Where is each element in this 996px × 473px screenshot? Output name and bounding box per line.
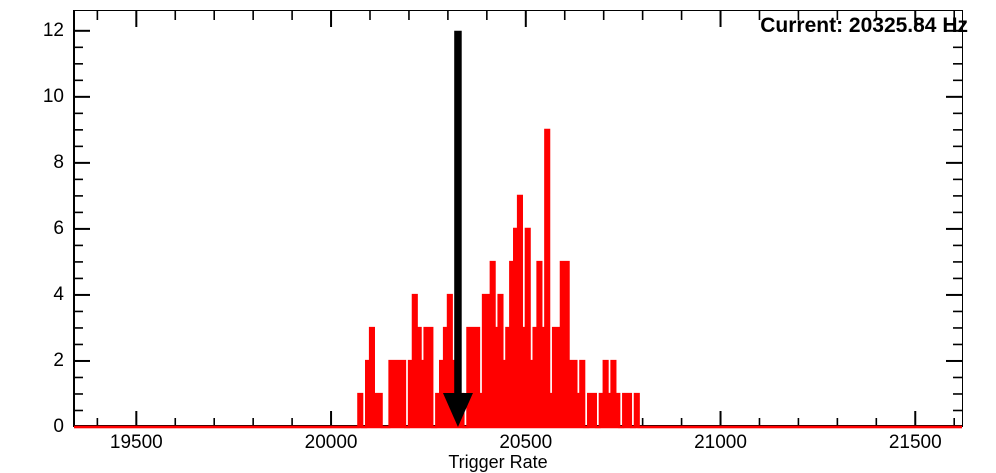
x-tick-label: 21500 [855, 433, 975, 452]
y-tick-label: 12 [20, 21, 64, 40]
x-tick-label: 20500 [466, 433, 586, 452]
histogram-series [74, 130, 962, 427]
plot-svg [0, 0, 996, 472]
y-tick-label: 4 [20, 285, 64, 304]
y-tick-label: 2 [20, 351, 64, 370]
x-tick-label: 19500 [76, 433, 196, 452]
y-tick-label: 6 [20, 219, 64, 238]
x-tick-label: 20000 [271, 433, 391, 452]
current-rate-label: Current: 20325.84 Hz [760, 14, 968, 38]
x-tick-label: 21000 [661, 433, 781, 452]
histogram-canvas: 024681012 1950020000205002100021500 Trig… [0, 0, 996, 472]
y-tick-label: 10 [20, 87, 64, 106]
y-tick-label: 8 [20, 153, 64, 172]
x-axis-title: Trigger Rate [0, 452, 996, 473]
y-tick-label: 0 [20, 417, 64, 436]
